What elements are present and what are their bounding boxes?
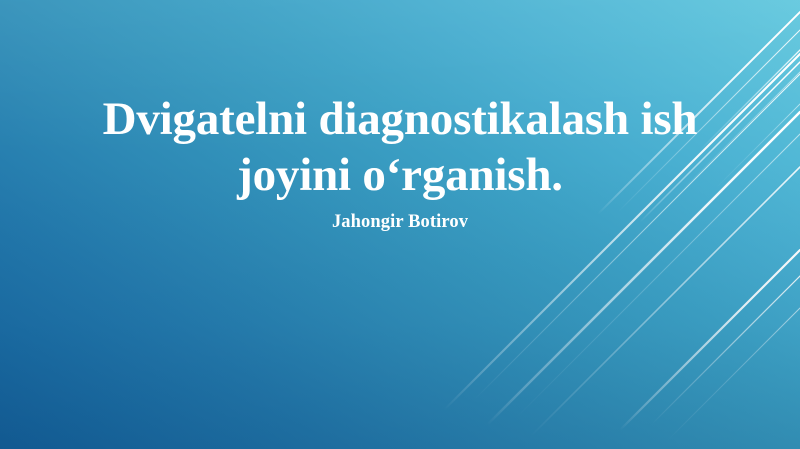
page-title: Dvigatelni diagnostikalash ish joyini o‘… xyxy=(0,92,800,204)
slide-text-block: Dvigatelni diagnostikalash ish joyini o‘… xyxy=(0,92,800,233)
slide-subtitle: Jahongir Botirov xyxy=(0,211,800,233)
title-slide: Dvigatelni diagnostikalash ish joyini o‘… xyxy=(0,0,800,449)
